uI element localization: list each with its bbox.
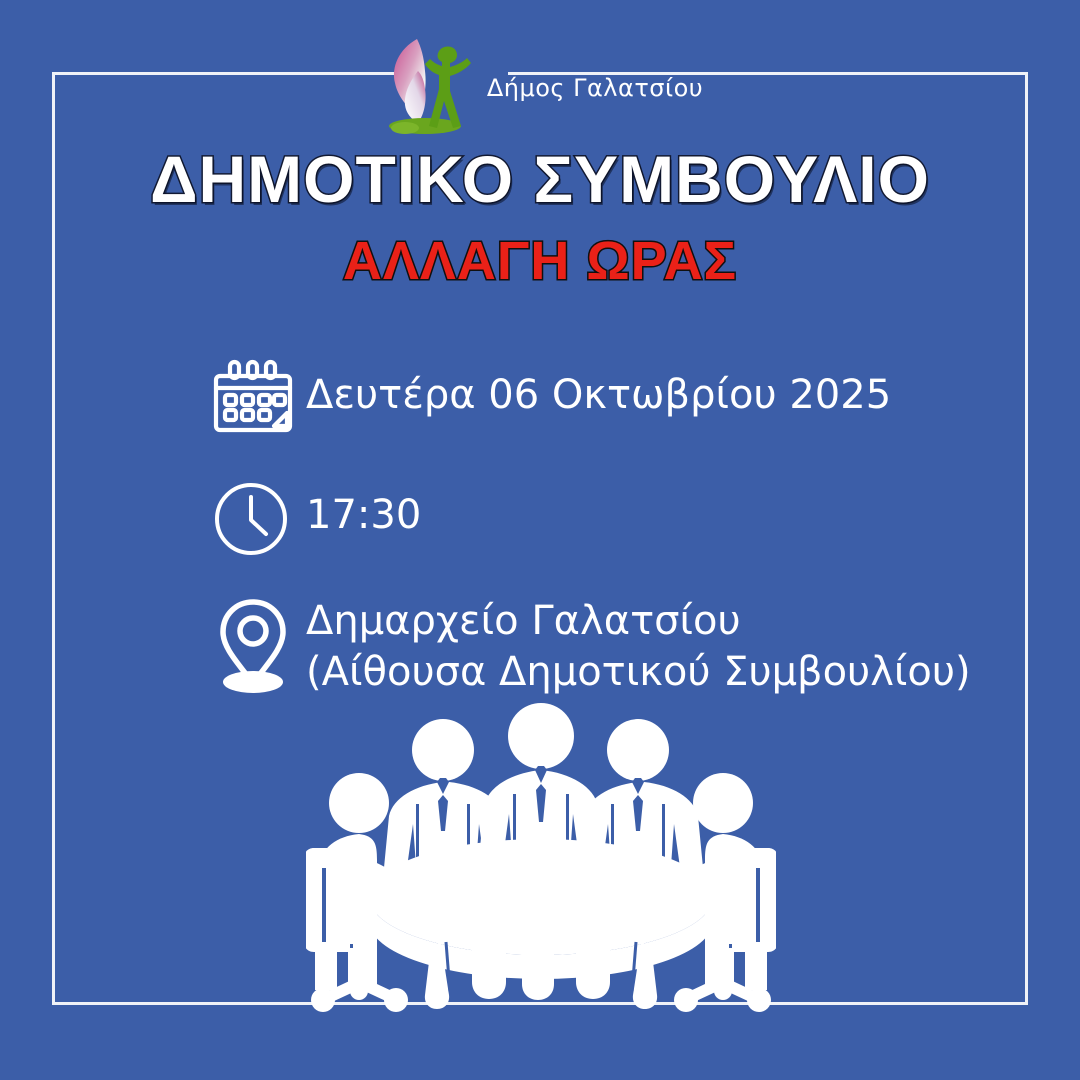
dimos-galatsiou-logo-icon bbox=[377, 31, 477, 141]
poster-canvas: Δήμος Γαλατσίου ΔΗΜΟΤΙΚΟ ΣΥΜΒΟΥΛΙΟ ΑΛΛΑΓ… bbox=[0, 0, 1080, 1080]
council-meeting-illustration bbox=[306, 700, 776, 1035]
poster-subtitle: ΑΛΛΑΓΗ ΩΡΑΣ bbox=[0, 234, 1080, 288]
clock-icon bbox=[210, 476, 306, 560]
event-location: Δημαρχείο Γαλατσίου (Αίθουσα Δημοτικού Σ… bbox=[306, 592, 971, 698]
detail-row-date: Δευτέρα 06 Οκτωβρίου 2025 bbox=[210, 352, 1040, 444]
calendar-icon bbox=[210, 352, 306, 444]
map-pin-icon bbox=[210, 592, 306, 694]
detail-row-time: 17:30 bbox=[210, 476, 1040, 560]
title-block: ΔΗΜΟΤΙΚΟ ΣΥΜΒΟΥΛΙΟ ΑΛΛΑΓΗ ΩΡΑΣ bbox=[0, 146, 1080, 288]
event-details: Δευτέρα 06 Οκτωβρίου 2025 17:30 bbox=[210, 352, 1040, 730]
organization-name: Δήμος Γαλατσίου bbox=[487, 74, 703, 102]
poster-title: ΔΗΜΟΤΙΚΟ ΣΥΜΒΟΥΛΙΟ bbox=[0, 146, 1080, 212]
header-logo-block: Δήμος Γαλατσίου bbox=[0, 28, 1080, 143]
event-date: Δευτέρα 06 Οκτωβρίου 2025 bbox=[306, 352, 891, 421]
detail-row-location: Δημαρχείο Γαλατσίου (Αίθουσα Δημοτικού Σ… bbox=[210, 592, 1040, 698]
event-time: 17:30 bbox=[306, 476, 421, 541]
